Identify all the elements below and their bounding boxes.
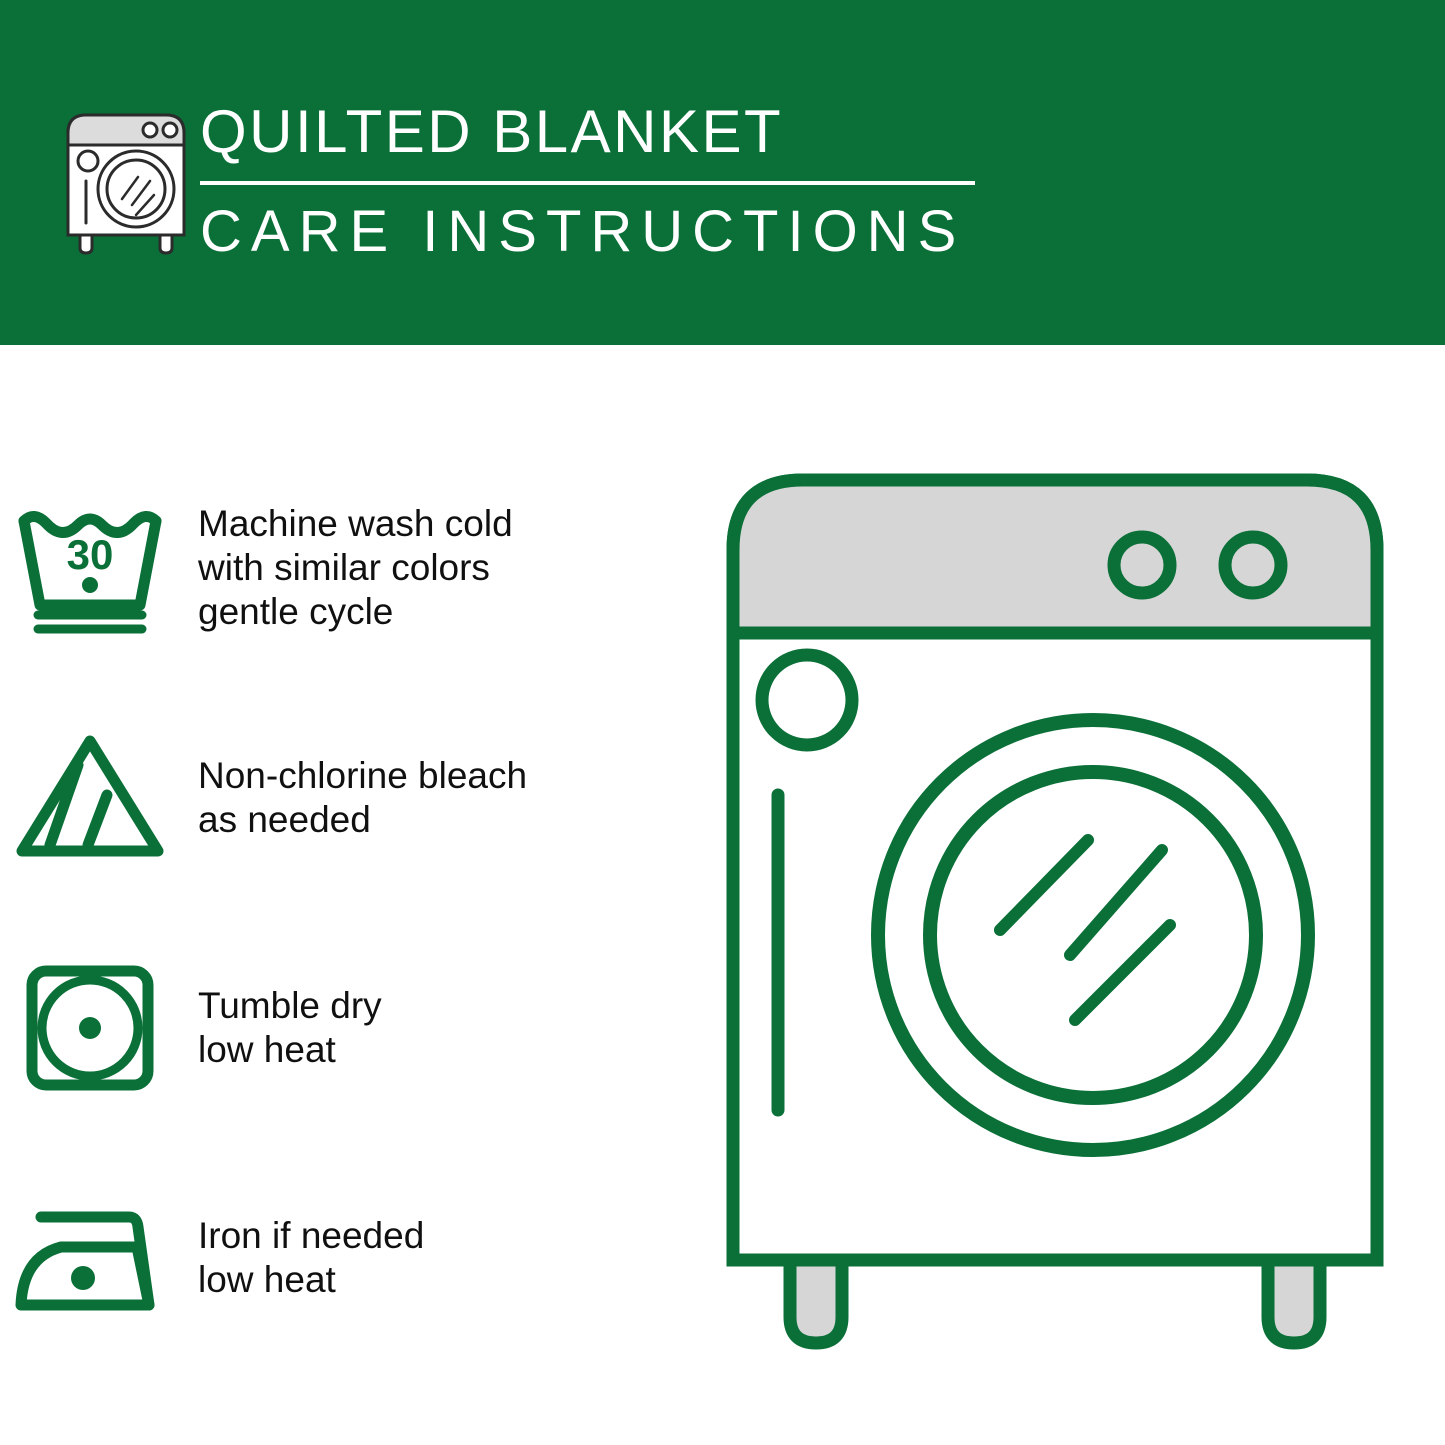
care-row-bleach: Non-chlorine bleach as needed [0,710,700,885]
care-text-tumble-dry: Tumble dry low heat [198,984,382,1072]
care-line: as needed [198,798,527,842]
care-line: gentle cycle [198,590,513,634]
dispenser-circle [762,655,852,745]
header-band: QUILTED BLANKET CARE INSTRUCTIONS [0,0,1445,345]
care-line: low heat [198,1258,424,1302]
care-text-machine-wash: Machine wash cold with similar colors ge… [198,502,513,634]
front-load-washing-machine-illustration [700,455,1440,1380]
title-divider [200,181,975,185]
knob-left [1114,537,1170,593]
iron-icon [0,1178,180,1338]
care-line: Tumble dry [198,984,382,1028]
leg-right [1268,1260,1320,1343]
care-line: Iron if needed [198,1214,424,1258]
care-text-bleach: Non-chlorine bleach as needed [198,754,527,842]
page-title: QUILTED BLANKET [200,95,990,169]
care-line: low heat [198,1028,382,1072]
care-line: Non-chlorine bleach [198,754,527,798]
care-row-tumble-dry: Tumble dry low heat [0,940,700,1115]
wash-temperature-label: 30 [67,531,114,578]
care-text-iron: Iron if needed low heat [198,1214,424,1302]
tumble-dry-icon [0,948,180,1108]
care-instructions-page: QUILTED BLANKET CARE INSTRUCTIONS 30 Mac… [0,0,1445,1445]
leg-left [790,1260,842,1343]
washing-machine-icon [62,105,190,255]
header-text-block: QUILTED BLANKET CARE INSTRUCTIONS [200,95,990,265]
care-row-machine-wash: 30 Machine wash cold with similar colors… [0,480,700,655]
care-row-iron: Iron if needed low heat [0,1170,700,1345]
page-subtitle: CARE INSTRUCTIONS [200,199,990,265]
care-line: Machine wash cold [198,502,513,546]
wash-tub-30-icon: 30 [0,488,180,648]
bleach-triangle-icon [0,718,180,878]
care-line: with similar colors [198,546,513,590]
care-instruction-list: 30 Machine wash cold with similar colors… [0,480,700,1400]
knob-right [1225,537,1281,593]
